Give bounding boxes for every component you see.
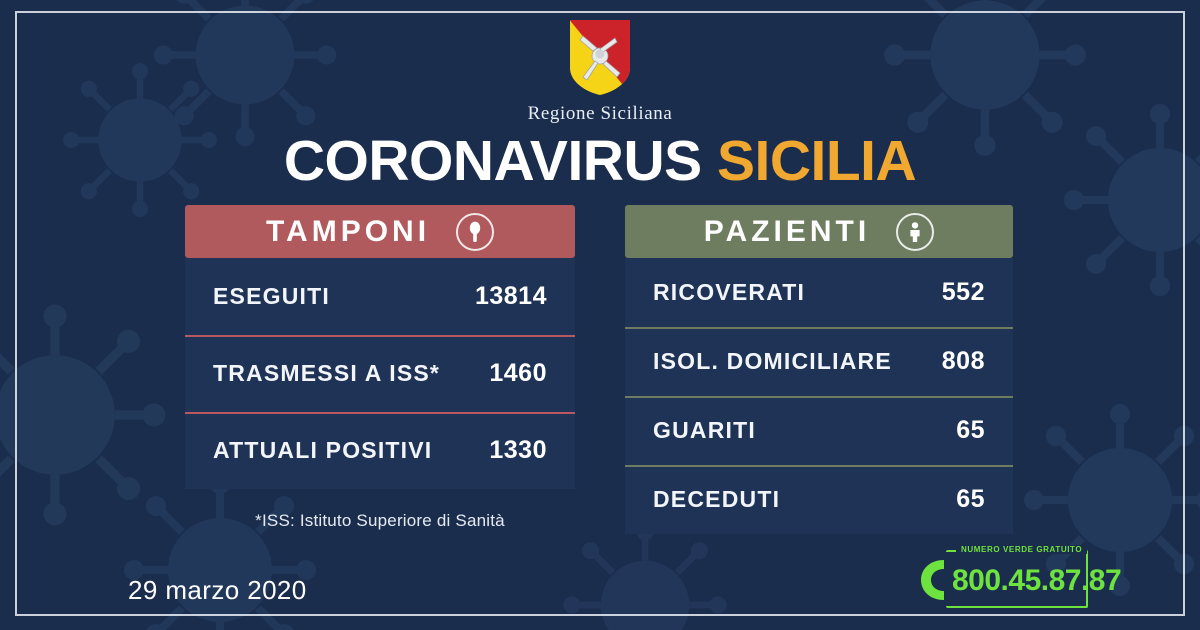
row-label: RICOVERATI bbox=[653, 279, 895, 306]
row-label: TRASMESSI A ISS* bbox=[213, 360, 457, 387]
regione-siciliana-emblem: Regione Siciliana bbox=[0, 18, 1200, 125]
virus-icon bbox=[1060, 100, 1200, 300]
rows-tamponi: ESEGUITI 13814 TRASMESSI A ISS* 1460 ATT… bbox=[185, 258, 575, 489]
numero-verde-number[interactable]: 800.45.87.87 bbox=[952, 564, 1121, 598]
row-value: 1330 bbox=[457, 436, 547, 465]
regione-siciliana-label: Regione Siciliana bbox=[0, 103, 1200, 125]
row-value: 808 bbox=[895, 347, 985, 376]
row-value: 65 bbox=[895, 416, 985, 445]
row-label: ESEGUITI bbox=[213, 283, 457, 310]
iss-footnote: *ISS: Istituto Superiore di Sanità bbox=[185, 511, 575, 531]
swab-icon bbox=[456, 213, 494, 251]
row-value: 552 bbox=[895, 278, 985, 307]
table-row: ESEGUITI 13814 bbox=[185, 258, 575, 335]
title-main: CORONAVIRUS bbox=[284, 129, 702, 193]
numero-verde-badge[interactable]: NUMERO VERDE GRATUITO 800.45.87.87 bbox=[912, 548, 1088, 610]
table-row: ISOL. DOMICILIARE 808 bbox=[625, 327, 1013, 396]
row-label: GUARITI bbox=[653, 417, 895, 444]
category-title-pazienti: PAZIENTI bbox=[704, 215, 870, 249]
category-header-pazienti: PAZIENTI bbox=[625, 205, 1013, 258]
column-pazienti: PAZIENTI RICOVERATI 552 ISOL. DOMICILIAR… bbox=[625, 205, 1013, 534]
rows-pazienti: RICOVERATI 552 ISOL. DOMICILIARE 808 GUA… bbox=[625, 258, 1013, 534]
infographic-poster: Regione Siciliana CORONAVIRUS SICILIA TA… bbox=[0, 0, 1200, 630]
category-header-tamponi: TAMPONI bbox=[185, 205, 575, 258]
row-value: 65 bbox=[895, 485, 985, 514]
table-row: TRASMESSI A ISS* 1460 bbox=[185, 335, 575, 412]
person-icon bbox=[896, 213, 934, 251]
numero-verde-caption: NUMERO VERDE GRATUITO bbox=[956, 545, 1087, 554]
title-accent: SICILIA bbox=[717, 129, 916, 193]
column-tamponi: TAMPONI ESEGUITI 13814 TRASMESSI A ISS* … bbox=[185, 205, 575, 531]
virus-icon bbox=[560, 520, 730, 630]
phone-handset-icon bbox=[912, 556, 954, 604]
table-row: DECEDUTI 65 bbox=[625, 465, 1013, 534]
row-value: 1460 bbox=[457, 359, 547, 388]
page-title: CORONAVIRUS SICILIA bbox=[0, 133, 1200, 190]
row-label: ISOL. DOMICILIARE bbox=[653, 348, 895, 375]
row-label: ATTUALI POSITIVI bbox=[213, 437, 457, 464]
row-value: 13814 bbox=[457, 282, 547, 311]
report-date: 29 marzo 2020 bbox=[128, 575, 307, 606]
table-row: GUARITI 65 bbox=[625, 396, 1013, 465]
category-title-tamponi: TAMPONI bbox=[266, 215, 430, 249]
sicily-trinacria-coat-of-arms-icon bbox=[568, 18, 632, 96]
virus-icon bbox=[0, 300, 170, 530]
table-row: ATTUALI POSITIVI 1330 bbox=[185, 412, 575, 489]
row-label: DECEDUTI bbox=[653, 486, 895, 513]
table-row: RICOVERATI 552 bbox=[625, 258, 1013, 327]
